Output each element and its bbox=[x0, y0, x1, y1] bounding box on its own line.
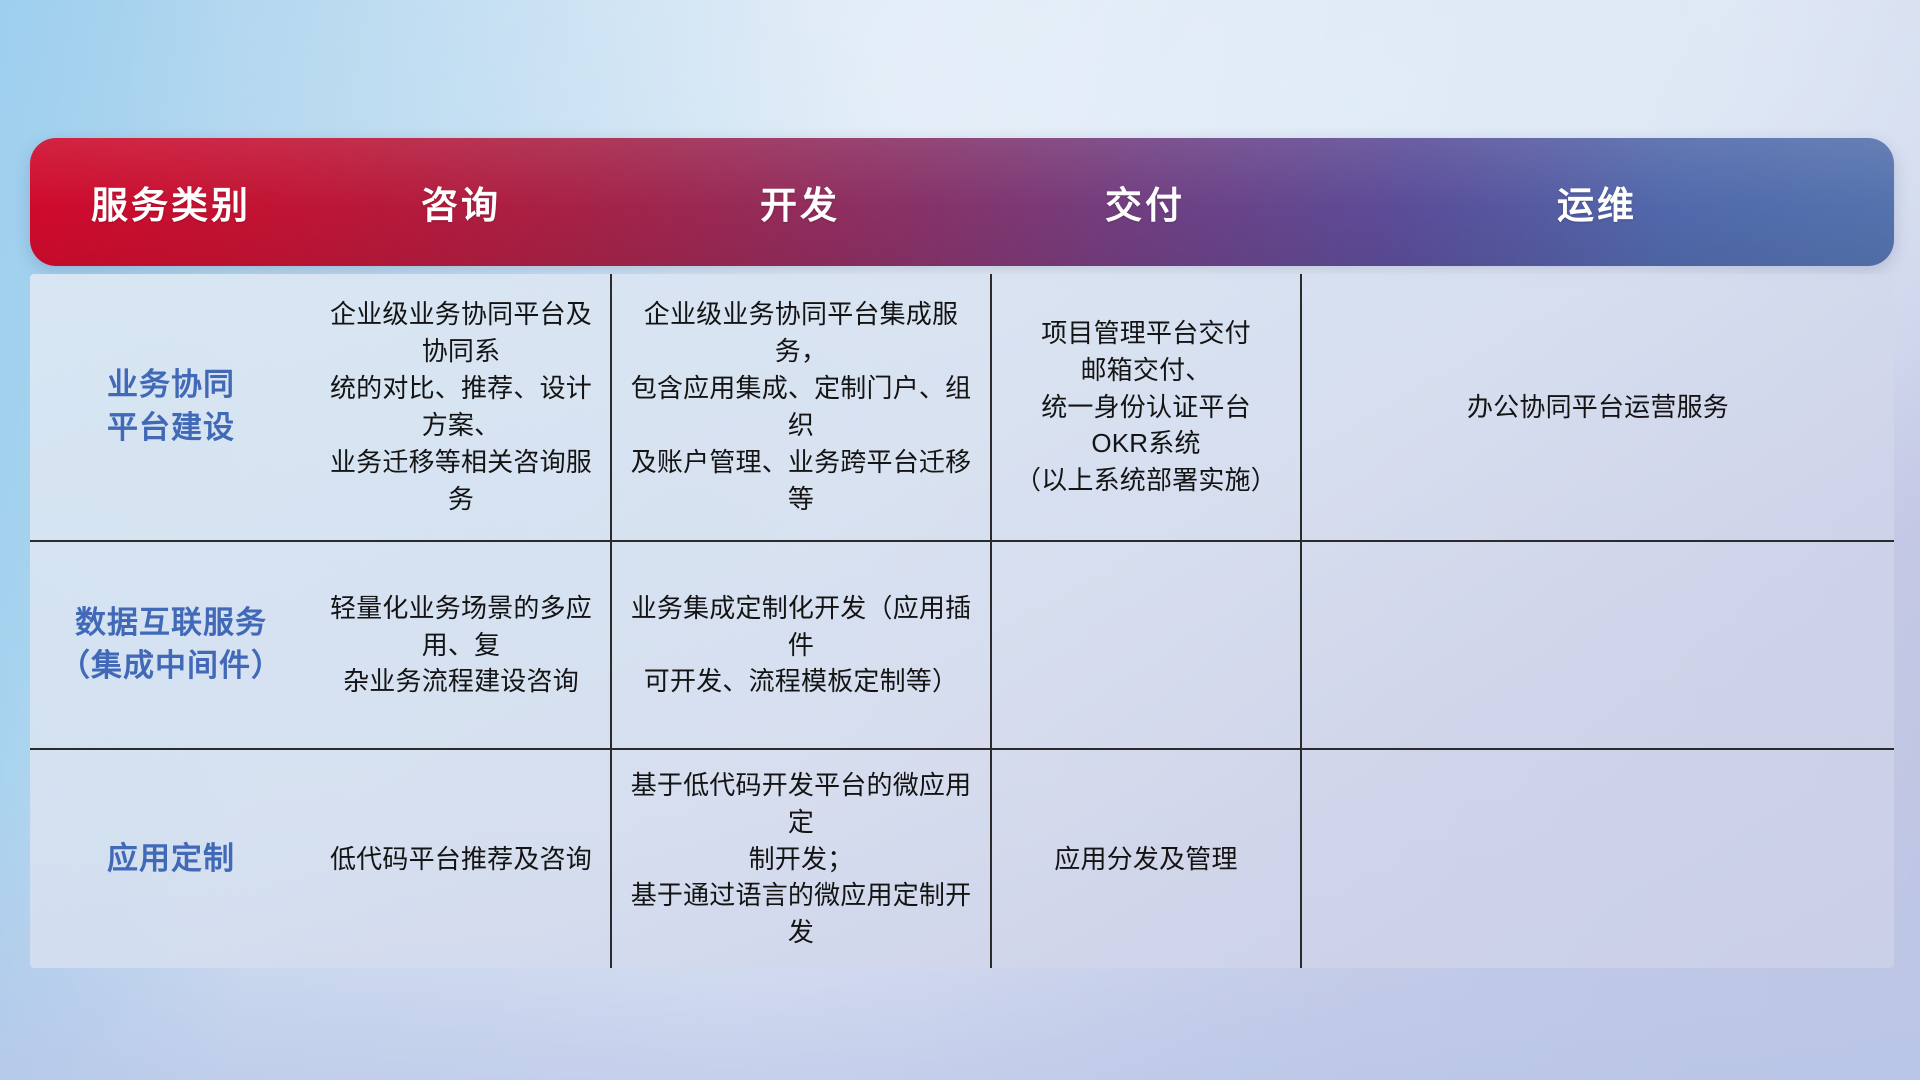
cell-delivery: 应用分发及管理 bbox=[990, 750, 1300, 968]
cell-consulting: 轻量化业务场景的多应用、复 杂业务流程建设咨询 bbox=[312, 542, 610, 748]
cell-text: 业务集成定制化开发（应用插件 可开发、流程模板定制等） bbox=[628, 590, 974, 701]
row-label: 业务协同 平台建设 bbox=[107, 364, 235, 450]
cell-delivery bbox=[990, 542, 1300, 748]
row-label-cell: 业务协同 平台建设 bbox=[30, 274, 312, 540]
cell-development: 企业级业务协同平台集成服务， 包含应用集成、定制门户、组织 及账户管理、业务跨平… bbox=[610, 274, 990, 540]
table-row: 应用定制 低代码平台推荐及咨询 基于低代码开发平台的微应用定 制开发； 基于通过… bbox=[30, 750, 1894, 968]
column-header-operations: 运维 bbox=[1300, 175, 1894, 229]
cell-text: 项目管理平台交付 邮箱交付、 统一身份认证平台 OKR系统 （以上系统部署实施） bbox=[1015, 315, 1277, 500]
cell-operations: 办公协同平台运营服务 bbox=[1300, 274, 1894, 540]
table-header-row: 服务类别 咨询 开发 交付 运维 bbox=[30, 138, 1894, 266]
row-label-cell: 数据互联服务 （集成中间件） bbox=[30, 542, 312, 748]
cell-text: 办公协同平台运营服务 bbox=[1467, 389, 1729, 426]
cell-delivery: 项目管理平台交付 邮箱交付、 统一身份认证平台 OKR系统 （以上系统部署实施） bbox=[990, 274, 1300, 540]
cell-text: 应用分发及管理 bbox=[1054, 841, 1237, 878]
cell-operations bbox=[1300, 750, 1894, 968]
service-matrix-table: 服务类别 咨询 开发 交付 运维 业务协同 平台建设 企业级业务协同平台及协同系… bbox=[30, 138, 1894, 968]
column-header-delivery: 交付 bbox=[990, 175, 1300, 229]
cell-development: 业务集成定制化开发（应用插件 可开发、流程模板定制等） bbox=[610, 542, 990, 748]
row-label-cell: 应用定制 bbox=[30, 750, 312, 968]
cell-text: 基于低代码开发平台的微应用定 制开发； 基于通过语言的微应用定制开发 bbox=[628, 767, 974, 952]
row-label: 应用定制 bbox=[107, 838, 235, 881]
cell-operations bbox=[1300, 542, 1894, 748]
cell-text: 低代码平台推荐及咨询 bbox=[330, 841, 592, 878]
table-body: 业务协同 平台建设 企业级业务协同平台及协同系 统的对比、推荐、设计方案、 业务… bbox=[30, 274, 1894, 968]
cell-consulting: 企业级业务协同平台及协同系 统的对比、推荐、设计方案、 业务迁移等相关咨询服务 bbox=[312, 274, 610, 540]
cell-development: 基于低代码开发平台的微应用定 制开发； 基于通过语言的微应用定制开发 bbox=[610, 750, 990, 968]
table-row: 业务协同 平台建设 企业级业务协同平台及协同系 统的对比、推荐、设计方案、 业务… bbox=[30, 274, 1894, 542]
column-header-consulting: 咨询 bbox=[312, 175, 610, 229]
cell-text: 轻量化业务场景的多应用、复 杂业务流程建设咨询 bbox=[328, 590, 594, 701]
row-label: 数据互联服务 （集成中间件） bbox=[59, 602, 283, 688]
column-header-development: 开发 bbox=[610, 175, 990, 229]
table-row: 数据互联服务 （集成中间件） 轻量化业务场景的多应用、复 杂业务流程建设咨询 业… bbox=[30, 542, 1894, 750]
cell-consulting: 低代码平台推荐及咨询 bbox=[312, 750, 610, 968]
cell-text: 企业级业务协同平台集成服务， 包含应用集成、定制门户、组织 及账户管理、业务跨平… bbox=[628, 296, 974, 517]
column-header-category: 服务类别 bbox=[30, 175, 312, 229]
cell-text: 企业级业务协同平台及协同系 统的对比、推荐、设计方案、 业务迁移等相关咨询服务 bbox=[328, 296, 594, 517]
